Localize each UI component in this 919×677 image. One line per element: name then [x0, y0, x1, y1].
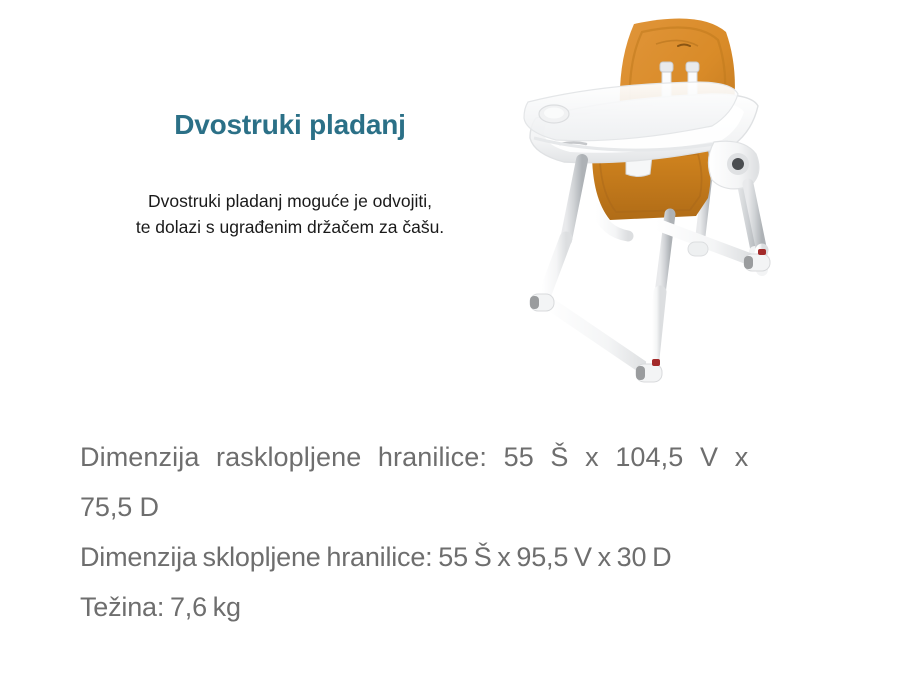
spec-dimensions-unfolded-line-2: 75,5 D	[80, 482, 848, 532]
product-feature-page: Dvostruki pladanj Dvostruki pladanj mogu…	[0, 0, 919, 677]
wheel-left	[530, 294, 554, 311]
wheel-rear	[688, 242, 708, 256]
highchair-illustration	[500, 2, 900, 402]
feature-text-block: Dvostruki pladanj Dvostruki pladanj mogu…	[60, 108, 520, 240]
feature-description-line-2: te dolazi s ugrađenim držačem za čašu.	[60, 214, 520, 240]
specifications-block: Dimenzija rasklopljene hranilice: 55 Š x…	[80, 432, 848, 632]
spec-dimensions-unfolded: Dimenzija rasklopljene hranilice: 55 Š x…	[80, 432, 848, 532]
spec-dimensions-folded: Dimenzija sklopljene hranilice: 55 Š x 9…	[80, 532, 848, 582]
feature-heading: Dvostruki pladanj	[60, 108, 520, 142]
product-image-highchair	[500, 2, 900, 402]
spec-dimensions-unfolded-line-1: Dimenzija rasklopljene hranilice: 55 Š x…	[80, 432, 848, 482]
brake-lever-icon	[758, 249, 766, 255]
feature-section: Dvostruki pladanj Dvostruki pladanj mogu…	[0, 0, 919, 420]
feature-description-line-1: Dvostruki pladanj moguće je odvojiti,	[60, 188, 520, 214]
spec-weight: Težina: 7,6 kg	[80, 582, 848, 632]
feature-description: Dvostruki pladanj moguće je odvojiti, te…	[60, 142, 520, 241]
brake-lever-icon	[652, 359, 660, 366]
